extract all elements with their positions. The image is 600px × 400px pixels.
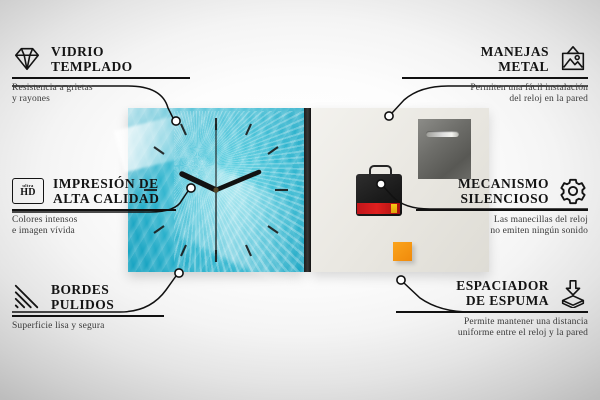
feature-heading: MANEJAS METAL <box>352 44 588 74</box>
feature-subtitle-line2: del reloj en la pared <box>352 94 588 106</box>
feature-heading: ESPACIADOR DE ESPUMA <box>352 278 588 308</box>
feature-heading: ultra HD IMPRESIÓN DE ALTA CALIDAD <box>12 176 248 206</box>
feature-title: MECANISMO SILENCIOSO <box>458 176 549 206</box>
foam-spacer-pad <box>393 242 413 260</box>
feature-bordes-pulidos: BORDES PULIDOS Superficie lisa y segura <box>12 282 248 332</box>
feature-rule <box>12 209 176 211</box>
diamond-icon <box>12 44 42 74</box>
feature-subtitle-line1: Las manecillas del reloj <box>352 215 588 227</box>
polished-edge-icon <box>12 282 42 312</box>
feature-subtitle-line2: uniforme entre el reloj y la pared <box>352 328 588 340</box>
feature-subtitle-line1: Superficie lisa y segura <box>12 321 248 333</box>
feature-subtitle-line2: e imagen vívida <box>12 226 248 238</box>
feature-title: IMPRESIÓN DE ALTA CALIDAD <box>53 176 159 206</box>
feature-title: ESPACIADOR DE ESPUMA <box>456 278 549 308</box>
feature-subtitle-line2: no emiten ningún sonido <box>352 226 588 238</box>
glass-edge <box>304 108 311 272</box>
picture-frame-icon <box>558 44 588 74</box>
feature-title: BORDES PULIDOS <box>51 282 114 312</box>
feature-subtitle-line1: Permiten una fácil instalación <box>352 83 588 95</box>
feature-subtitle-line1: Colores intensos <box>12 215 248 227</box>
ultra-hd-icon-bottom: HD <box>20 188 35 198</box>
feature-title: MANEJAS METAL <box>481 44 549 74</box>
feature-rule <box>416 209 588 211</box>
ultra-hd-icon: ultra HD <box>12 178 44 204</box>
feature-impresion-alta-calidad: ultra HD IMPRESIÓN DE ALTA CALIDAD Color… <box>12 176 248 238</box>
hanger-keyhole-slot <box>426 131 459 136</box>
feature-heading: VIDRIO TEMPLADO <box>12 44 248 74</box>
feature-vidrio-templado: VIDRIO TEMPLADO Resistencia a grietas y … <box>12 44 248 106</box>
feature-rule <box>12 315 164 317</box>
feature-subtitle-line1: Permite mantener una distancia <box>352 317 588 329</box>
feature-rule <box>12 77 190 79</box>
feature-manejas-metal: MANEJAS METAL Permiten una fácil instala… <box>352 44 588 106</box>
foam-spacer-icon <box>558 278 588 308</box>
feature-subtitle-line2: y rayones <box>12 94 248 106</box>
gear-icon <box>558 176 588 206</box>
feature-subtitle-line1: Resistencia a grietas <box>12 83 248 95</box>
feature-heading: BORDES PULIDOS <box>12 282 248 312</box>
feature-title: VIDRIO TEMPLADO <box>51 44 133 74</box>
infographic-canvas: VIDRIO TEMPLADO Resistencia a grietas y … <box>0 0 600 400</box>
feature-heading: MECANISMO SILENCIOSO <box>352 176 588 206</box>
feature-mecanismo-silencioso: MECANISMO SILENCIOSO Las manecillas del … <box>352 176 588 238</box>
metal-hanger-plate <box>418 119 471 178</box>
feature-rule <box>402 77 588 79</box>
feature-espaciador-espuma: ESPACIADOR DE ESPUMA Permite mantener un… <box>352 278 588 340</box>
feature-rule <box>396 311 588 313</box>
